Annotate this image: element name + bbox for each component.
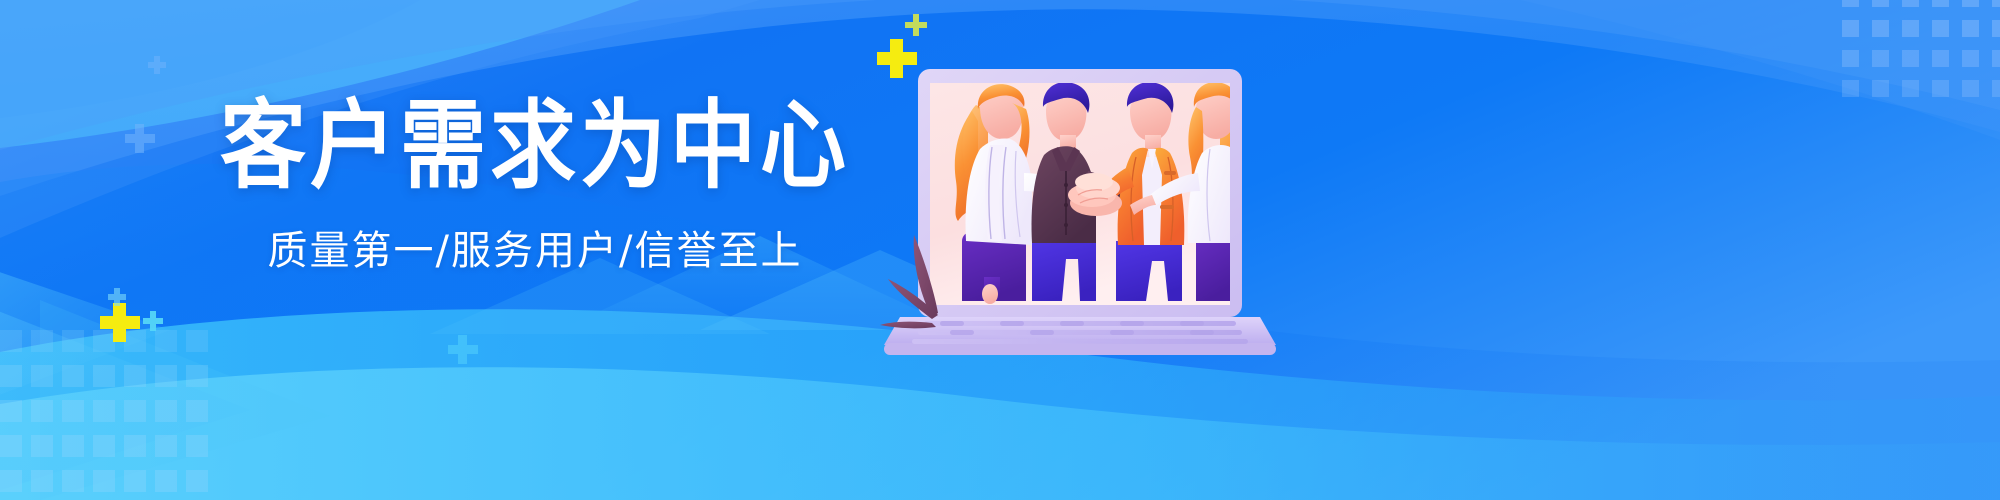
page-title: 客户需求为中心 [215, 96, 855, 197]
plus-yellow-large-bottom [100, 303, 140, 342]
plus-cyan-tiny-bottom [108, 288, 126, 306]
plus-cyan-bottom-mid [448, 335, 478, 364]
headline-block: 客户需求为中心 质量第一/服务用户/信誉至上 [215, 96, 855, 276]
plus-yellow-small-top [905, 14, 927, 36]
marketing-banner: 客户需求为中心 质量第一/服务用户/信誉至上 [0, 0, 2000, 500]
plus-cyan-small-bottom [143, 311, 163, 331]
laptop-teamwork-illustration [880, 45, 1300, 355]
plus-pale-mid [125, 124, 155, 153]
page-subtitle: 质量第一/服务用户/信誉至上 [215, 218, 855, 276]
plus-pale-small [148, 56, 166, 74]
laptop-keyboard [884, 317, 1276, 355]
